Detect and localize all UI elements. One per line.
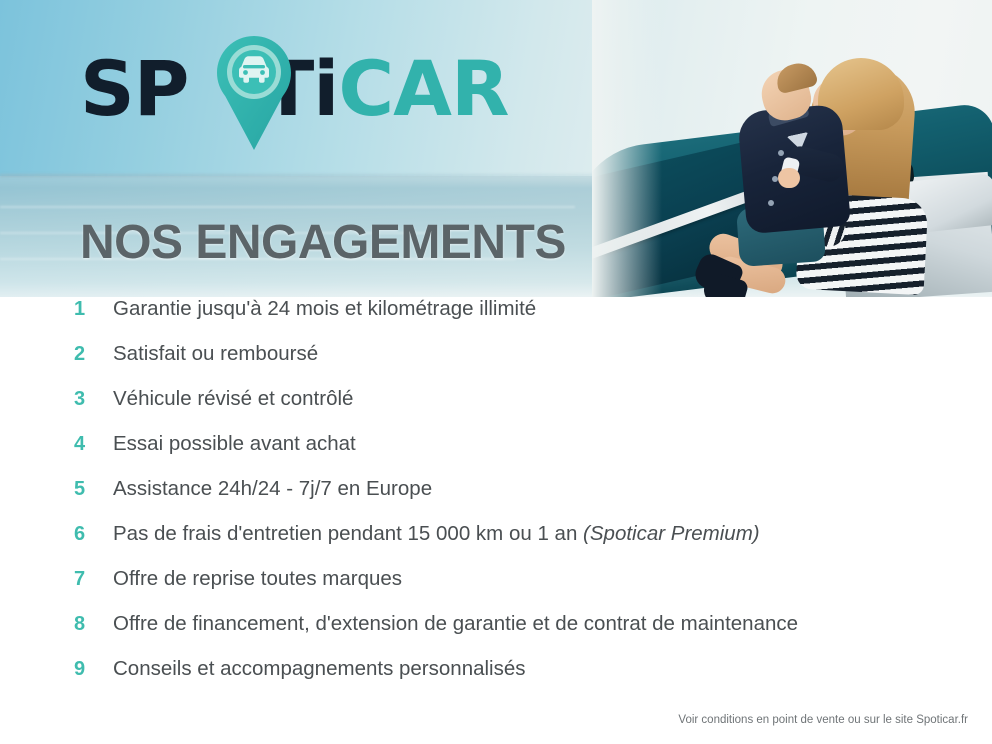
list-item-text: Assistance 24h/24 - 7j/7 en Europe (113, 477, 432, 501)
spoticar-commitments-page: SPTiCAR NOS ENGAGEMENTS (0, 0, 992, 744)
legal-footnote: Voir conditions en point de vente ou sur… (678, 714, 968, 726)
hero-photo (592, 0, 992, 297)
list-item: 7 Offre de reprise toutes marques (0, 567, 992, 612)
boy-shirt-button (768, 200, 774, 206)
list-item-text-main: Pas de frais d'entretien pendant 15 000 … (113, 522, 583, 545)
list-item: 5 Assistance 24h/24 - 7j/7 en Europe (0, 477, 992, 522)
list-item-number: 7 (74, 568, 113, 591)
list-item: 9 Conseils et accompagnements personnali… (0, 657, 992, 702)
list-item-text-italic: (Spoticar Premium) (583, 522, 760, 545)
list-item-text: Offre de financement, d'extension de gar… (113, 612, 798, 636)
commitments-list: 1 Garantie jusqu'à 24 mois et kilométrag… (0, 297, 992, 702)
page-title: NOS ENGAGEMENTS (80, 215, 566, 270)
list-item: 3 Véhicule révisé et contrôlé (0, 387, 992, 432)
list-item-number: 9 (74, 658, 113, 681)
boy-hand (778, 168, 800, 188)
list-item-text: Offre de reprise toutes marques (113, 567, 402, 591)
boy-shirt-button (778, 150, 784, 156)
list-item-number: 2 (74, 343, 113, 366)
list-item-number: 8 (74, 613, 113, 636)
list-item-text: Garantie jusqu'à 24 mois et kilométrage … (113, 297, 536, 321)
list-item-number: 1 (74, 298, 113, 321)
list-item-number: 6 (74, 523, 113, 546)
logo-text-sp: SP (80, 44, 188, 133)
list-item-number: 5 (74, 478, 113, 501)
list-item: 6 Pas de frais d'entretien pendant 15 00… (0, 522, 992, 567)
list-item-number: 4 (74, 433, 113, 456)
sea-streak (0, 206, 575, 208)
list-item-number: 3 (74, 388, 113, 411)
list-item: 8 Offre de financement, d'extension de g… (0, 612, 992, 657)
location-pin-car-icon (212, 34, 296, 152)
list-item-text: Conseils et accompagnements personnalisé… (113, 657, 526, 681)
list-item-text: Satisfait ou remboursé (113, 342, 318, 366)
photo-left-fade (592, 0, 662, 297)
list-item: 1 Garantie jusqu'à 24 mois et kilométrag… (0, 297, 992, 342)
list-item-text: Pas de frais d'entretien pendant 15 000 … (113, 522, 760, 546)
list-item-text: Véhicule révisé et contrôlé (113, 387, 353, 411)
list-item: 4 Essai possible avant achat (0, 432, 992, 477)
hero-banner: SPTiCAR NOS ENGAGEMENTS (0, 0, 992, 297)
list-item: 2 Satisfait ou remboursé (0, 342, 992, 387)
logo-text-car: CAR (338, 44, 508, 133)
list-item-text: Essai possible avant achat (113, 432, 356, 456)
boy-hair (773, 60, 818, 95)
